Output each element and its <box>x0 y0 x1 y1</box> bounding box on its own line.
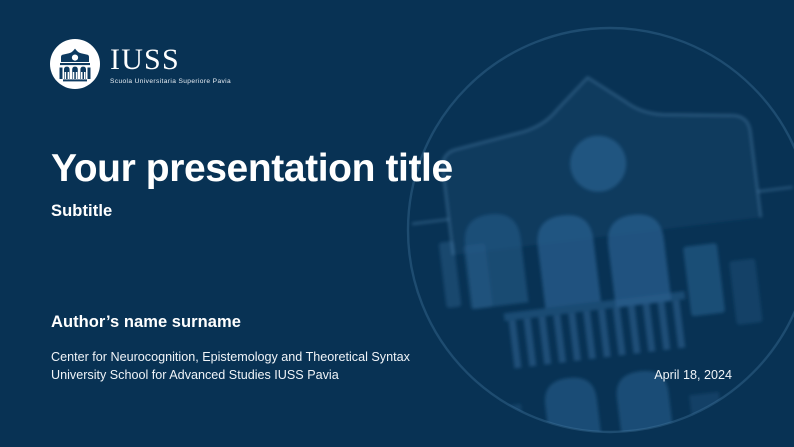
iuss-wordmark-group: IUSS Scuola Universitaria Superiore Pavi… <box>110 43 231 86</box>
page-title: Your presentation title <box>51 148 453 190</box>
presentation-date: April 18, 2024 <box>654 368 732 383</box>
author-name: Author’s name surname <box>51 313 410 331</box>
iuss-circular-building-emblem-icon <box>49 38 101 90</box>
page-subtitle: Subtitle <box>51 202 453 220</box>
affiliation-line-2: University School for Advanced Studies I… <box>51 367 410 385</box>
title-slide: IUSS Scuola Universitaria Superiore Pavi… <box>0 0 794 447</box>
author-block: Author’s name surname Center for Neuroco… <box>51 313 410 385</box>
affiliation-line-1: Center for Neurocognition, Epistemology … <box>51 349 410 367</box>
iuss-tagline: Scuola Universitaria Superiore Pavia <box>110 79 231 86</box>
affiliation: Center for Neurocognition, Epistemology … <box>51 349 410 385</box>
title-block: Your presentation title Subtitle <box>51 148 453 220</box>
iuss-wordmark: IUSS <box>110 45 231 75</box>
iuss-logo: IUSS Scuola Universitaria Superiore Pavi… <box>49 38 231 90</box>
